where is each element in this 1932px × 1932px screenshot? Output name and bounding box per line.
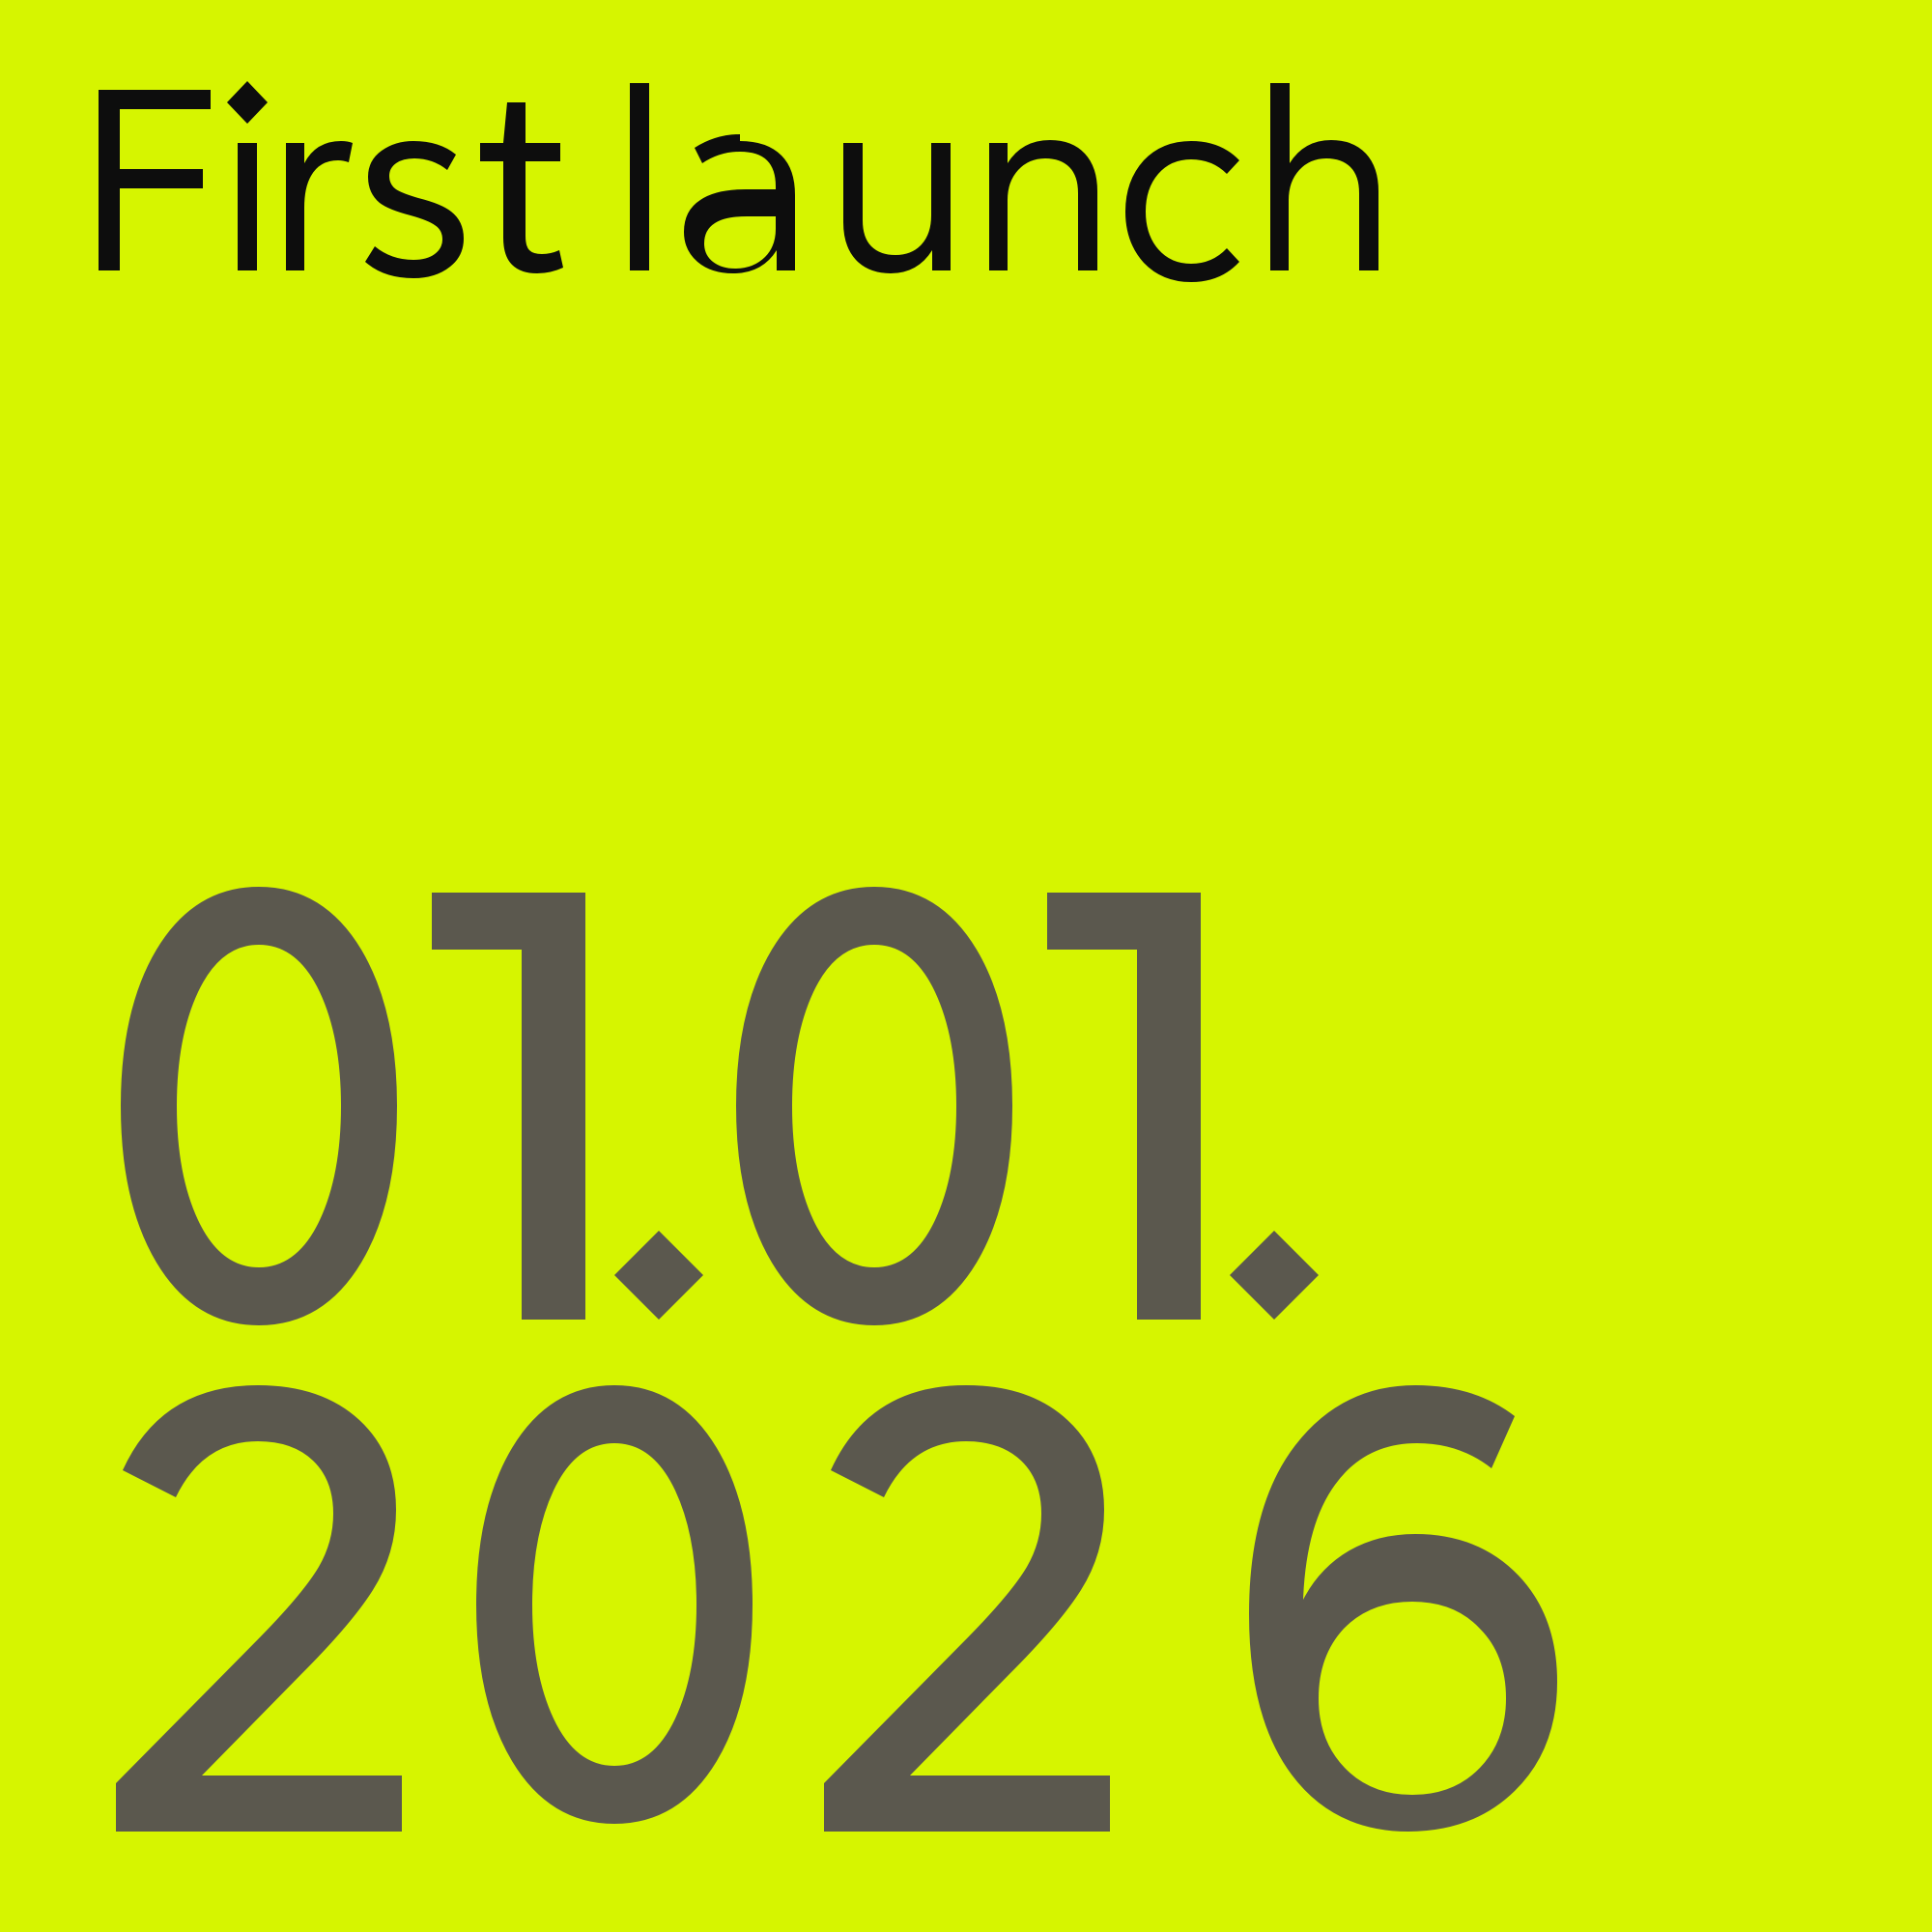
diamond-period-icon [614,1231,703,1320]
digit-two [824,1385,1110,1832]
digit-one [432,893,585,1320]
digit-zero [121,887,397,1325]
date-line-year: 2026 [116,1349,1623,1861]
diamond-period-icon [1230,1231,1319,1320]
poster-canvas: First launch [0,0,1932,1932]
digit-zero [736,887,1012,1325]
date-line-1-lettering: 01.01. [116,850,1623,1362]
digit-six [1249,1385,1557,1832]
heading-lettering: First launch [93,54,1735,257]
diamond-dot-icon [227,81,268,124]
date-line-day-month: 01.01. [116,850,1623,1362]
date-line-2-lettering: 2026 [116,1349,1623,1861]
digit-one [1047,893,1201,1320]
digit-two [116,1385,402,1832]
digit-zero [476,1385,753,1824]
page-title: First launch [93,54,1735,257]
launch-date: 01.01. 2026 [116,850,1623,1874]
